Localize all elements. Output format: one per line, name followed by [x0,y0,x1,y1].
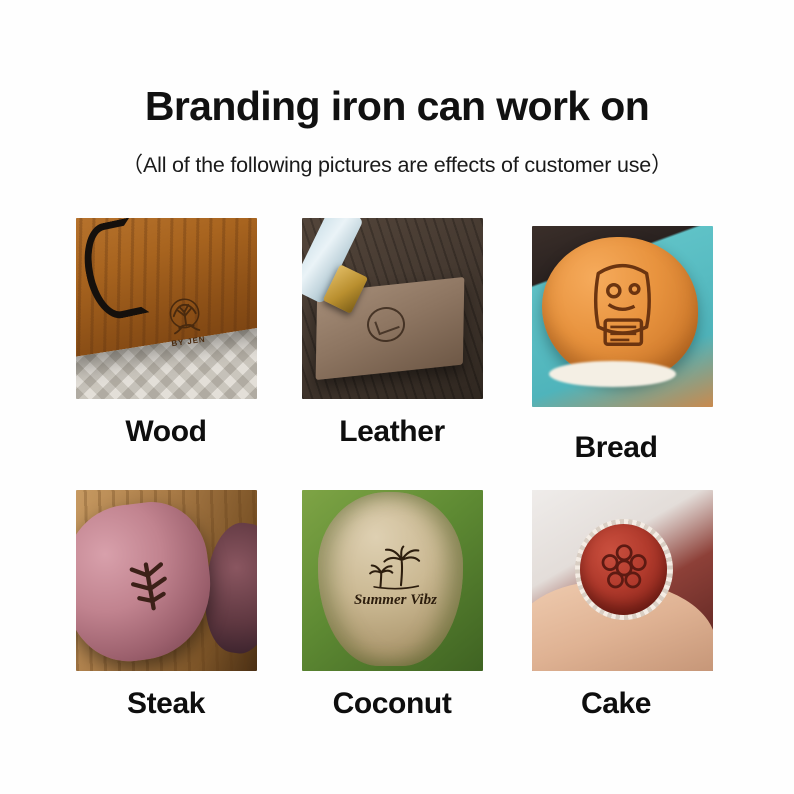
gallery-caption-bread: Bread [505,407,727,465]
steak-branding-photo [76,490,257,671]
wood-branding-photo: BY JEN [76,218,257,399]
cake-branding-photo [532,490,713,671]
bread-branding-photo [532,226,713,407]
page-subtitle: （All of the following pictures are effec… [0,129,794,179]
palm-tree-logo-icon: Summer Vibz [352,537,439,613]
leather-branding-photo [302,218,483,399]
promo-page: Branding iron can work on （All of the fo… [0,0,794,794]
gallery-item-cake: Cake [505,490,727,721]
svg-text:Summer Vibz: Summer Vibz [354,592,437,608]
gallery-item-wood: BY JEN Wood [55,218,277,449]
bread-photo-art [532,226,713,407]
gallery-caption-coconut: Coconut [281,671,503,721]
character-logo-icon [579,251,666,363]
gallery-item-steak: Steak [55,490,277,721]
crest-logo-icon [113,547,186,625]
gallery-caption-steak: Steak [55,671,277,721]
gallery-caption-wood: Wood [55,399,277,449]
page-header: Branding iron can work on （All of the fo… [0,0,794,179]
coconut-photo-art: Summer Vibz [302,490,483,671]
flower-logo-icon [597,539,651,597]
wood-photo-art: BY JEN [76,218,257,399]
material-gallery: BY JEN Wood [0,218,794,762]
gallery-item-bread: Bread [505,218,727,465]
gallery-item-leather: Leather [281,218,503,449]
svg-text:BY JEN: BY JEN [171,335,206,349]
gallery-row: Steak [0,490,794,762]
gallery-caption-cake: Cake [505,671,727,721]
leather-photo-art [302,218,483,399]
steak-photo-art [76,490,257,671]
gallery-item-coconut: Summer Vibz Coconut [281,490,503,721]
gallery-row: BY JEN Wood [0,218,794,490]
page-title: Branding iron can work on [0,0,794,129]
gallery-caption-leather: Leather [281,399,503,449]
coconut-branding-photo: Summer Vibz [302,490,483,671]
tree-logo-icon: BY JEN [149,286,222,356]
cake-photo-art [532,490,713,671]
